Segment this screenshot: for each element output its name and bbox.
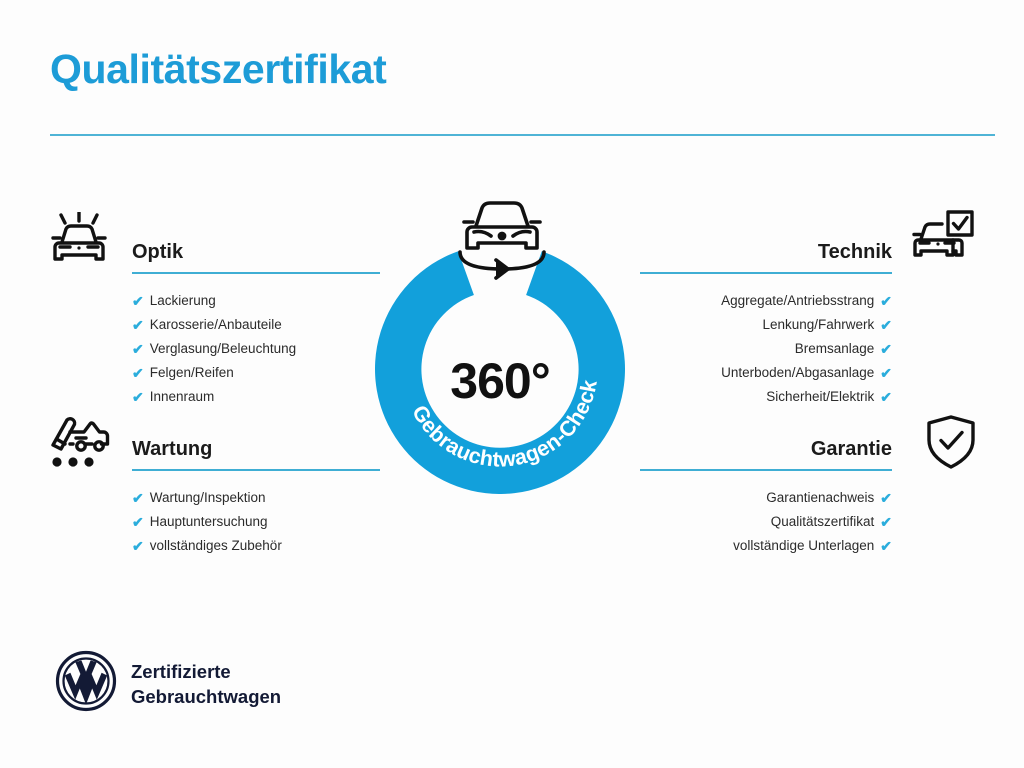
section-technik: Technik Aggregate/Antriebsstrang✔ Lenkun… (640, 240, 892, 409)
list-item: Garantienachweis✔ (640, 486, 892, 510)
check-icon: ✔ (132, 539, 144, 553)
header-divider (50, 134, 995, 136)
section-technik-header: Technik (640, 240, 892, 274)
check-icon: ✔ (132, 390, 144, 404)
check-icon: ✔ (880, 390, 892, 404)
footer-brand-text: Zertifizierte Gebrauchtwagen (131, 659, 281, 709)
check-icon: ✔ (132, 366, 144, 380)
list-item-label: vollständige Unterlagen (733, 534, 874, 558)
check-icon: ✔ (880, 539, 892, 553)
section-optik: Optik ✔Lackierung ✔Karosserie/Anbauteile… (132, 240, 380, 409)
section-wartung-divider (132, 469, 380, 471)
section-optik-header: Optik (132, 240, 380, 274)
check-icon: ✔ (880, 342, 892, 356)
footer-line-1: Zertifizierte (131, 659, 281, 684)
list-item: vollständige Unterlagen✔ (640, 534, 892, 558)
list-item-label: vollständiges Zubehör (150, 534, 282, 558)
check-icon: ✔ (132, 294, 144, 308)
section-garantie-title: Garantie (640, 437, 892, 461)
car-service-tool-icon (48, 414, 110, 472)
section-garantie: Garantie Garantienachweis✔ Qualitätszert… (640, 437, 892, 558)
badge-360-gebrauchtwagen-check: Gebrauchtwagen-Check 360° (375, 192, 650, 492)
list-item-label: Karosserie/Anbauteile (150, 313, 282, 337)
list-item-label: Unterboden/Abgasanlage (721, 361, 874, 385)
list-item-label: Aggregate/Antriebsstrang (721, 289, 874, 313)
badge-number: 360° (375, 352, 625, 410)
check-icon: ✔ (880, 294, 892, 308)
section-technik-list: Aggregate/Antriebsstrang✔ Lenkung/Fahrwe… (640, 289, 892, 409)
list-item-label: Bremsanlage (795, 337, 875, 361)
list-item-label: Qualitätszertifikat (771, 510, 875, 534)
check-icon: ✔ (132, 318, 144, 332)
list-item-label: Hauptuntersuchung (150, 510, 268, 534)
list-item: Qualitätszertifikat✔ (640, 510, 892, 534)
car-front-shine-icon (48, 212, 110, 270)
list-item: Sicherheit/Elektrik✔ (640, 385, 892, 409)
list-item-label: Lenkung/Fahrwerk (762, 313, 874, 337)
section-optik-list: ✔Lackierung ✔Karosserie/Anbauteile ✔Verg… (132, 289, 380, 409)
section-garantie-list: Garantienachweis✔ Qualitätszertifikat✔ v… (640, 486, 892, 558)
shield-check-icon (920, 414, 982, 472)
section-wartung-list: ✔Wartung/Inspektion ✔Hauptuntersuchung ✔… (132, 486, 380, 558)
section-wartung-title: Wartung (132, 437, 380, 461)
volkswagen-logo (55, 650, 117, 712)
list-item: Lenkung/Fahrwerk✔ (640, 313, 892, 337)
list-item: ✔Felgen/Reifen (132, 361, 380, 385)
list-item: ✔Karosserie/Anbauteile (132, 313, 380, 337)
list-item-label: Innenraum (150, 385, 215, 409)
footer-line-2: Gebrauchtwagen (131, 684, 281, 709)
list-item-label: Wartung/Inspektion (150, 486, 266, 510)
section-technik-divider (640, 272, 892, 274)
list-item: Aggregate/Antriebsstrang✔ (640, 289, 892, 313)
section-optik-divider (132, 272, 380, 274)
list-item: ✔vollständiges Zubehör (132, 534, 380, 558)
section-wartung-header: Wartung (132, 437, 380, 471)
list-item: ✔Wartung/Inspektion (132, 486, 380, 510)
section-garantie-header: Garantie (640, 437, 892, 471)
car-front-checkbox-icon (912, 210, 974, 268)
list-item-label: Felgen/Reifen (150, 361, 234, 385)
list-item: Bremsanlage✔ (640, 337, 892, 361)
list-item-label: Lackierung (150, 289, 216, 313)
list-item: ✔Innenraum (132, 385, 380, 409)
list-item: ✔Verglasung/Beleuchtung (132, 337, 380, 361)
list-item-label: Garantienachweis (766, 486, 874, 510)
list-item: ✔Lackierung (132, 289, 380, 313)
check-icon: ✔ (132, 342, 144, 356)
list-item: Unterboden/Abgasanlage✔ (640, 361, 892, 385)
list-item: ✔Hauptuntersuchung (132, 510, 380, 534)
check-icon: ✔ (880, 491, 892, 505)
check-icon: ✔ (880, 515, 892, 529)
check-icon: ✔ (132, 515, 144, 529)
section-wartung: Wartung ✔Wartung/Inspektion ✔Hauptunters… (132, 437, 380, 558)
list-item-label: Sicherheit/Elektrik (766, 385, 874, 409)
check-icon: ✔ (132, 491, 144, 505)
check-icon: ✔ (880, 318, 892, 332)
section-garantie-divider (640, 469, 892, 471)
section-optik-title: Optik (132, 240, 380, 264)
certificate-page: Qualitätszertifikat Optik ✔Lackierung ✔K… (0, 0, 1024, 768)
check-icon: ✔ (880, 366, 892, 380)
page-title: Qualitätszertifikat (50, 46, 386, 93)
section-technik-title: Technik (640, 240, 892, 264)
list-item-label: Verglasung/Beleuchtung (150, 337, 296, 361)
car-360-rotation-icon (452, 192, 552, 284)
